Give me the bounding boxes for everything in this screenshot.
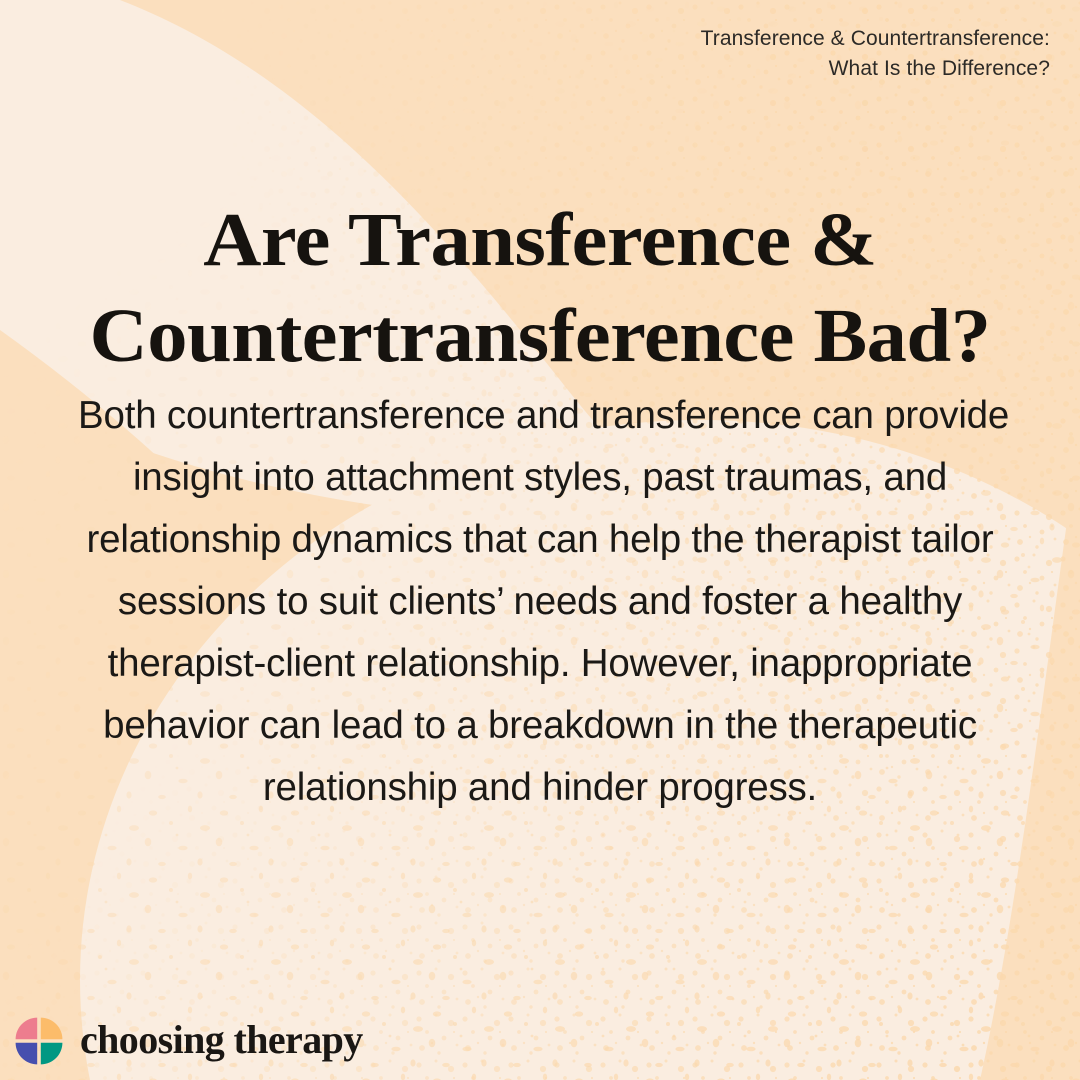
card-content: Transference & Countertransference: What…: [0, 0, 1080, 1080]
brand-footer: choosing therapy: [14, 1016, 363, 1066]
headline-line-2: Countertransference Bad?: [21, 289, 1060, 385]
article-title-eyebrow: Transference & Countertransference: What…: [490, 24, 1050, 84]
body-line: relationship dynamics that can help the …: [78, 509, 1002, 571]
logo-quadrant-bottom-right-icon: [41, 1043, 63, 1065]
body-line: insight into attachment styles, past tra…: [78, 447, 1002, 509]
logo-quadrant-top-right-icon: [41, 1018, 63, 1040]
body-line: therapist-client relationship. However, …: [78, 633, 1002, 695]
body-paragraph: Both countertransference and transferenc…: [78, 385, 1002, 819]
body-line: behavior can lead to a breakdown in the …: [78, 695, 1002, 757]
body-line: sessions to suit clients’ needs and fost…: [78, 571, 1002, 633]
logo-quadrant-bottom-left-icon: [16, 1043, 38, 1065]
body-line: relationship and hinder progress.: [78, 757, 1002, 819]
page-title: Are Transference & Countertransference B…: [21, 193, 1060, 385]
headline-line-1: Are Transference &: [21, 193, 1060, 289]
choosing-therapy-logo-mark: [14, 1016, 64, 1066]
brand-name: choosing therapy: [80, 1020, 363, 1063]
eyebrow-line-2: What Is the Difference?: [490, 54, 1050, 84]
social-card: Transference & Countertransference: What…: [0, 0, 1080, 1080]
logo-quadrant-top-left-icon: [16, 1018, 38, 1040]
eyebrow-line-1: Transference & Countertransference:: [701, 27, 1050, 50]
body-line: Both countertransference and transferenc…: [78, 385, 1002, 447]
